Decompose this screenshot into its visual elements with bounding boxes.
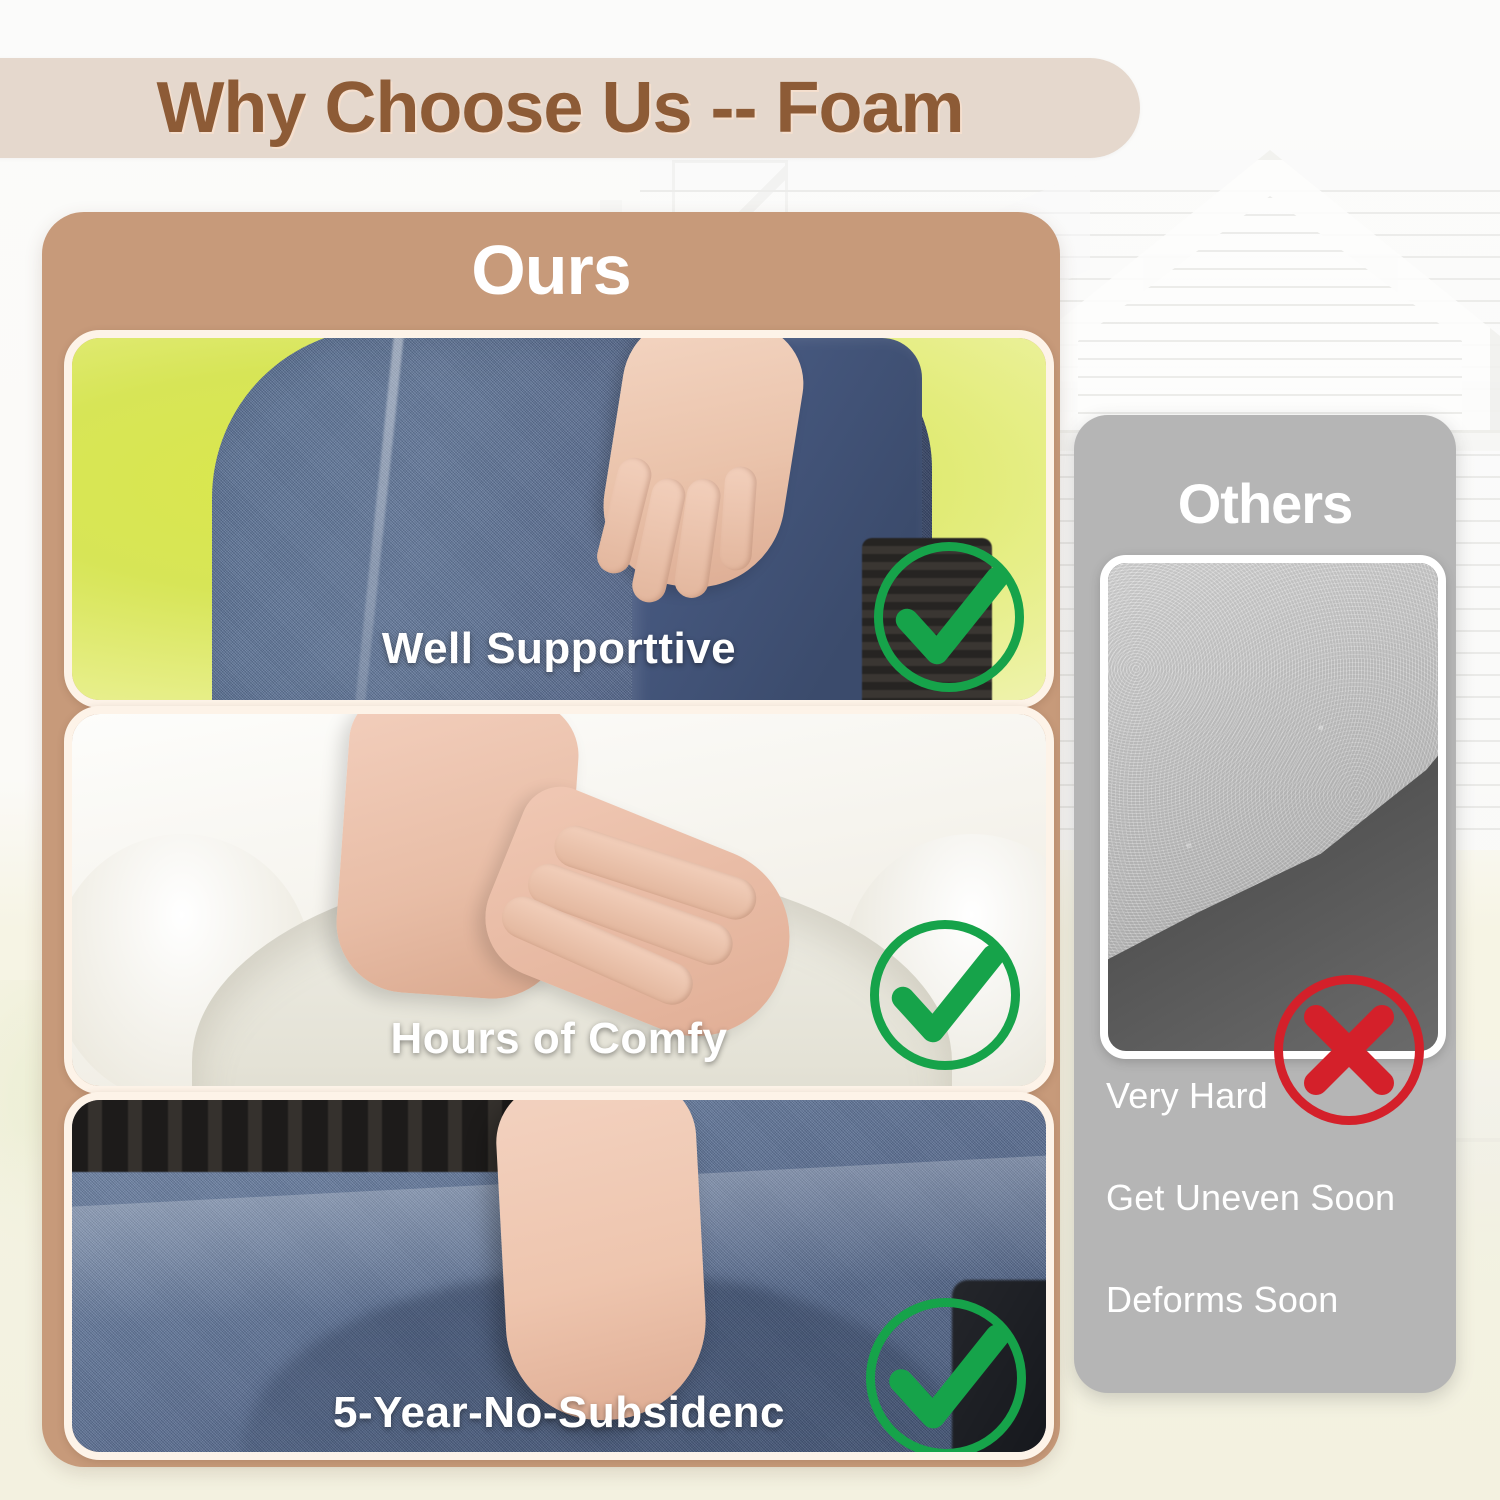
title-banner: Why Choose Us -- Foam <box>0 58 1140 158</box>
others-list-item: Deforms Soon <box>1106 1279 1436 1321</box>
others-heading: Others <box>1074 471 1456 536</box>
wicker-frame <box>72 1100 542 1172</box>
green-check-icon <box>866 1298 1026 1458</box>
coarse-foam-grain <box>1100 555 1446 963</box>
ours-card-2: Hours of Comfy <box>64 706 1054 1094</box>
finger <box>719 465 758 571</box>
green-check-icon <box>870 920 1020 1070</box>
ours-panel: Ours <box>42 212 1060 1467</box>
pressing-hand <box>493 1100 711 1425</box>
red-cross-icon <box>1274 975 1424 1125</box>
ours-card-3: 5-Year-No-Subsidenc <box>64 1092 1054 1460</box>
others-panel: Others Very Hard Get Uneven Soon Deforms… <box>1074 415 1456 1393</box>
ours-card-1: Well Supporttive <box>64 330 1054 708</box>
others-list-item: Get Uneven Soon <box>1106 1177 1436 1219</box>
green-check-icon <box>874 542 1024 692</box>
page-title: Why Choose Us -- Foam <box>156 67 963 149</box>
ours-heading: Ours <box>42 230 1060 310</box>
infographic-canvas: Why Choose Us -- Foam Ours <box>0 0 1500 1500</box>
